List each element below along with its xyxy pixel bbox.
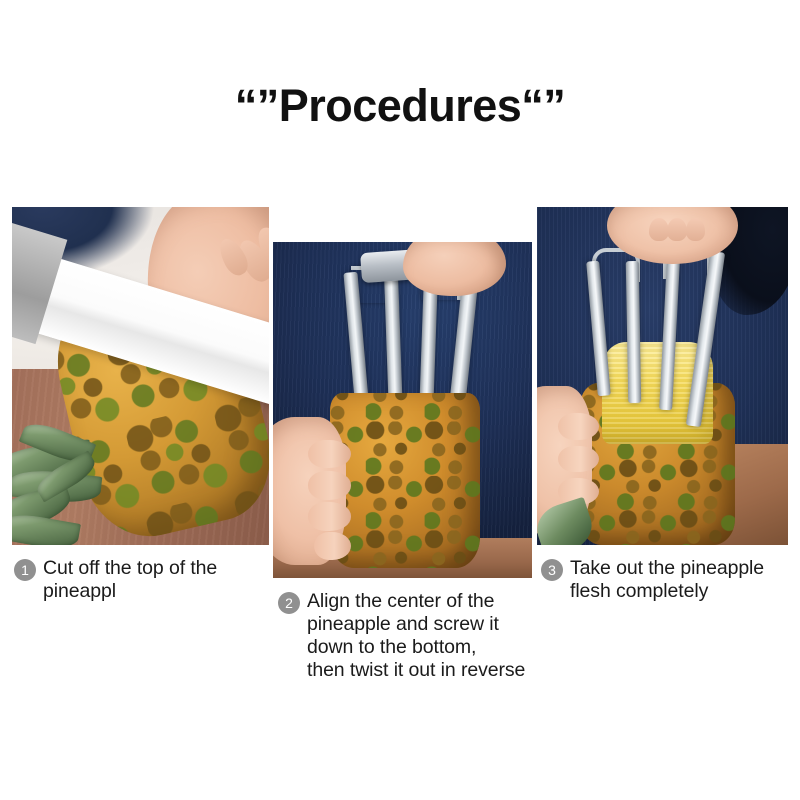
page-title: “”Procedures“” [0, 82, 800, 129]
finger [308, 471, 351, 499]
scene-knife-cutting-pineapple-top [12, 207, 269, 545]
step-image-2 [273, 242, 532, 578]
pineapple-body [330, 393, 480, 568]
left-hand-grip [273, 417, 346, 565]
finger [308, 440, 351, 468]
scene-corer-screwed-into-pineapple [273, 242, 532, 578]
step-badge-1: 1 [14, 559, 36, 581]
step-caption-text-2: Align the center of the pineapple and sc… [307, 590, 525, 682]
knuckle [686, 218, 706, 240]
finger [314, 532, 351, 560]
knuckle [649, 218, 669, 240]
step-badge-3: 3 [541, 559, 563, 581]
knuckle [667, 218, 687, 240]
finger [558, 413, 599, 440]
step-image-3 [537, 207, 788, 545]
step-badge-2: 2 [278, 592, 300, 614]
step-caption-2: 2 Align the center of the pineapple and … [278, 590, 540, 682]
pineapple-crown-leaves [12, 417, 146, 545]
step-caption-3: 3 Take out the pineapple flesh completel… [541, 557, 797, 603]
step-image-1 [12, 207, 269, 545]
finger [308, 502, 351, 530]
scene-pineapple-flesh-extracted [537, 207, 788, 545]
step-caption-text-1: Cut off the top of the pineappl [43, 557, 217, 603]
step-caption-text-3: Take out the pineapple flesh completely [570, 557, 764, 603]
step-caption-1: 1 Cut off the top of the pineappl [14, 557, 264, 603]
